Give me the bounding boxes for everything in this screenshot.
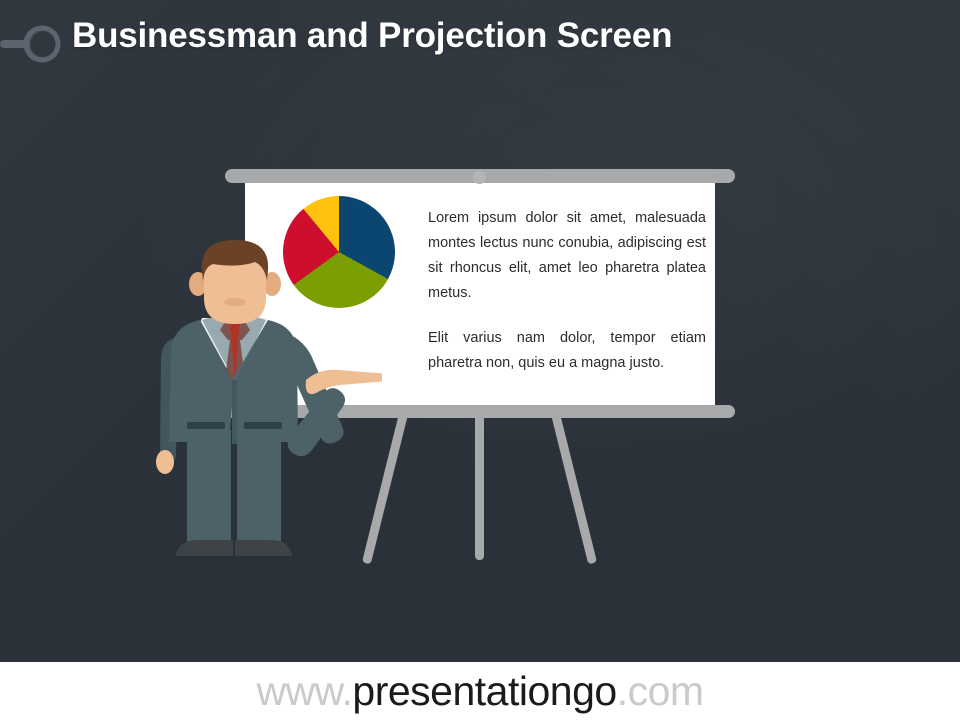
footer-url-brand: presentationgo: [352, 668, 616, 714]
footer-url-prefix: www.: [256, 668, 352, 714]
footer-url-suffix: .com: [617, 668, 704, 714]
ring-with-bar-icon: [0, 24, 66, 64]
screen-top-bar: [225, 169, 735, 183]
slide-canvas: Businessman and Projection Screen Lorem …: [0, 0, 960, 720]
screen-knob-icon: [473, 171, 486, 184]
screen-paragraph-2: Elit varius nam dolor, tempor etiam phar…: [428, 326, 706, 376]
screen-paragraph-1: Lorem ipsum dolor sit amet, malesuada mo…: [428, 206, 706, 306]
footer-url: www.presentationgo.com: [256, 671, 703, 712]
footer-bar: www.presentationgo.com: [0, 662, 960, 720]
businessman-illustration: [132, 240, 382, 570]
page-title: Businessman and Projection Screen: [72, 16, 912, 56]
